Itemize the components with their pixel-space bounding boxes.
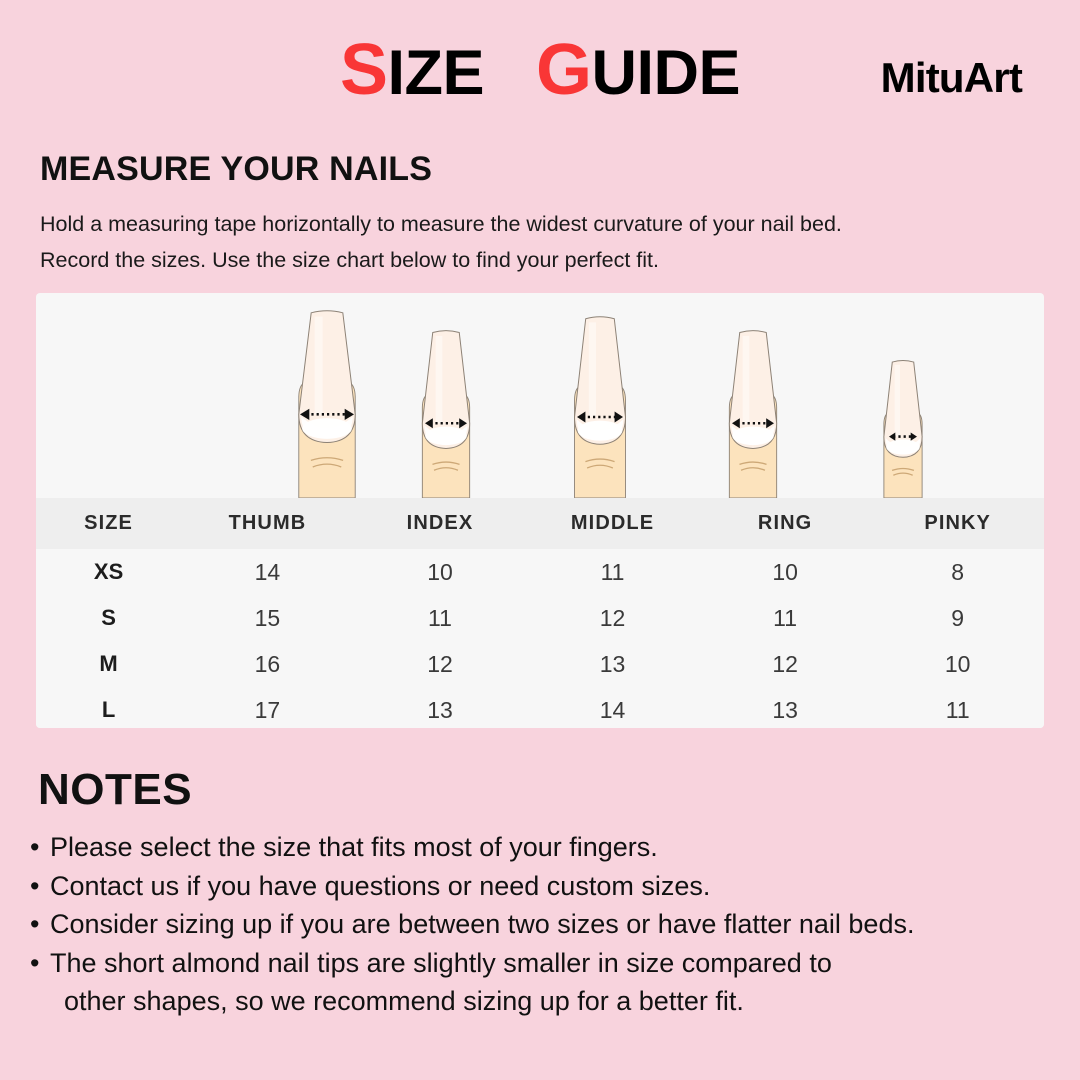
notes-heading: NOTES <box>38 765 192 815</box>
cell-index: 12 <box>354 641 527 687</box>
note-bullet-icon: • <box>30 944 50 983</box>
cell-thumb: 17 <box>181 687 354 728</box>
cell-index: 11 <box>354 595 527 641</box>
title-cap-s: S <box>340 30 388 110</box>
table-row: M1612131210 <box>36 641 1044 687</box>
note-text: Consider sizing up if you are between tw… <box>50 909 914 939</box>
cell-middle: 14 <box>526 687 699 728</box>
nail-illustration-middle <box>572 316 628 498</box>
cell-pinky: 9 <box>871 595 1044 641</box>
nail-illustration-thumb <box>296 310 358 498</box>
note-bullet-icon: • <box>30 828 50 867</box>
cell-pinky: 10 <box>871 641 1044 687</box>
table-body: XS141011108S151112119M1612131210L1713141… <box>36 549 1044 728</box>
cell-middle: 12 <box>526 595 699 641</box>
table-row: L1713141311 <box>36 687 1044 728</box>
cell-ring: 13 <box>699 687 872 728</box>
nail-illustration-pinky <box>882 360 924 498</box>
table-header: SIZE THUMB INDEX MIDDLE RING PINKY <box>36 498 1044 549</box>
nail-lunula <box>302 418 352 439</box>
cell-thumb: 14 <box>181 549 354 595</box>
table-header-row: SIZE THUMB INDEX MIDDLE RING PINKY <box>36 498 1044 549</box>
cell-thumb: 15 <box>181 595 354 641</box>
nail-lunula <box>425 427 467 445</box>
size-chart-table: SIZE THUMB INDEX MIDDLE RING PINKY XS141… <box>36 498 1044 728</box>
cell-size: S <box>36 595 181 641</box>
title-word-size: SIZE <box>340 34 484 106</box>
note-item: •The short almond nail tips are slightly… <box>30 944 1060 983</box>
column-header-size: SIZE <box>36 498 181 549</box>
cell-ring: 12 <box>699 641 872 687</box>
note-item: other shapes, so we recommend sizing up … <box>30 982 1060 1021</box>
cell-ring: 11 <box>699 595 872 641</box>
cell-middle: 13 <box>526 641 699 687</box>
page-header: SIZE GUIDE MituArt <box>0 0 1080 130</box>
nail-sheen <box>894 365 899 437</box>
cell-middle: 11 <box>526 549 699 595</box>
measure-section-heading: MEASURE YOUR NAILS <box>40 150 432 189</box>
note-item: •Consider sizing up if you are between t… <box>30 905 1060 944</box>
column-header-ring: RING <box>699 498 872 549</box>
nail-sheen <box>589 322 596 417</box>
cell-ring: 10 <box>699 549 872 595</box>
nail-svg-thumb <box>296 310 358 498</box>
cell-size: M <box>36 641 181 687</box>
column-header-thumb: THUMB <box>181 498 354 549</box>
measure-instruction-line-2: Record the sizes. Use the size chart bel… <box>40 242 1040 278</box>
nail-illustration-ring <box>727 330 779 498</box>
nail-lunula <box>886 439 920 454</box>
nail-lunula <box>578 421 623 441</box>
nail-svg-index <box>420 330 472 498</box>
cell-index: 13 <box>354 687 527 728</box>
note-item: •Contact us if you have questions or nee… <box>30 867 1060 906</box>
note-bullet-icon: • <box>30 867 50 906</box>
cell-size: XS <box>36 549 181 595</box>
note-text: other shapes, so we recommend sizing up … <box>64 986 744 1016</box>
cell-size: L <box>36 687 181 728</box>
nail-sheen <box>314 317 322 415</box>
cell-index: 10 <box>354 549 527 595</box>
notes-list: •Please select the size that fits most o… <box>30 828 1060 1021</box>
nail-svg-middle <box>572 316 628 498</box>
note-text: The short almond nail tips are slightly … <box>50 948 832 978</box>
table-row: S151112119 <box>36 595 1044 641</box>
note-text: Contact us if you have questions or need… <box>50 871 710 901</box>
column-header-pinky: PINKY <box>871 498 1044 549</box>
nail-svg-ring <box>727 330 779 498</box>
title-rest-ize: IZE <box>387 38 484 108</box>
measure-instruction-line-1: Hold a measuring tape horizontally to me… <box>40 206 1040 242</box>
nail-sheen <box>436 336 443 423</box>
note-bullet-icon: • <box>30 905 50 944</box>
nail-svg-pinky <box>882 360 924 498</box>
note-text: Please select the size that fits most of… <box>50 832 658 862</box>
title-rest-uide: UIDE <box>592 38 741 108</box>
cell-pinky: 8 <box>871 549 1044 595</box>
cell-pinky: 11 <box>871 687 1044 728</box>
column-header-index: INDEX <box>354 498 527 549</box>
title-cap-g: G <box>536 30 592 110</box>
nail-diagram-row <box>36 293 1044 498</box>
cell-thumb: 16 <box>181 641 354 687</box>
note-item: •Please select the size that fits most o… <box>30 828 1060 867</box>
column-header-middle: MIDDLE <box>526 498 699 549</box>
size-chart-table-wrap: SIZE THUMB INDEX MIDDLE RING PINKY XS141… <box>36 498 1044 728</box>
nail-lunula <box>732 427 774 445</box>
nail-illustration-index <box>420 330 472 498</box>
title-word-guide: GUIDE <box>536 34 740 106</box>
measure-instructions: Hold a measuring tape horizontally to me… <box>40 206 1040 278</box>
nail-sheen <box>743 336 750 423</box>
size-chart-panel: SIZE THUMB INDEX MIDDLE RING PINKY XS141… <box>36 293 1044 728</box>
brand-logo: MituArt <box>881 54 1022 102</box>
table-row: XS141011108 <box>36 549 1044 595</box>
